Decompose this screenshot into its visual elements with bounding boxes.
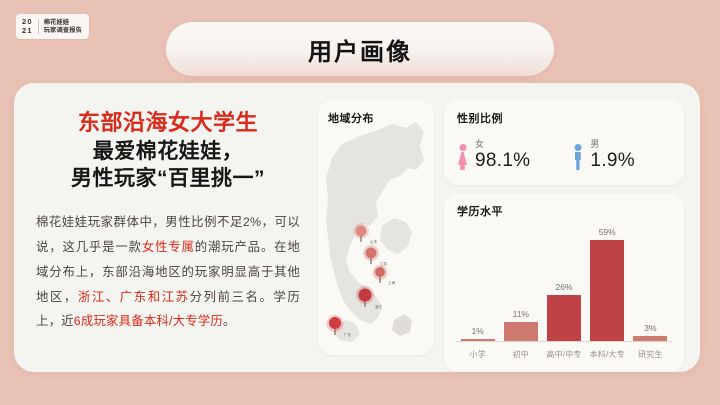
map-pin-label: 上海: [388, 280, 395, 285]
logo-words: 棉花娃娃 玩家调查报告: [44, 19, 82, 35]
region-panel-title: 地域分布: [328, 110, 434, 126]
logo-year: 20 21: [22, 18, 33, 35]
male-icon: [572, 144, 583, 171]
pin-dot: [329, 317, 341, 329]
chart-x-axis: 小学初中高中/中专本科/大专研究生: [456, 344, 672, 364]
summary-paragraph: 棉花娃娃玩家群体中，男性比例不足2%，可以说，这几乎是一款女性专属的潮玩产品。在…: [36, 210, 300, 334]
map-pin-jiangsu[interactable]: 江苏: [363, 245, 379, 265]
female-label: 女: [475, 137, 530, 150]
chart-bar: [633, 336, 667, 341]
chart-bar-column: 11%: [499, 227, 542, 341]
gender-rows: 女 98.1% 男 1.9%: [457, 137, 684, 171]
female-icon: [457, 144, 468, 171]
map-pin-shandong[interactable]: 山东: [353, 223, 369, 243]
pin-stem: [365, 301, 366, 307]
female-icon-head: [459, 144, 466, 151]
chart-x-tick: 高中/中专: [542, 344, 585, 364]
education-bar-chart: 1%11%26%59%3% 小学初中高中/中专本科/大专研究生: [456, 227, 672, 364]
gender-panel-title: 性别比例: [457, 110, 684, 126]
summary-text-4: 。: [223, 314, 236, 328]
male-label: 男: [590, 137, 635, 150]
pin-stem: [361, 236, 362, 242]
headline: 东部沿海女大学生 最爱棉花娃娃， 男性玩家“百里挑一”: [36, 109, 300, 192]
chart-bar-column: 3%: [629, 227, 672, 341]
pin-stem: [371, 258, 372, 264]
stats-column: 山东 江苏 上海 浙江: [318, 83, 700, 372]
education-panel-title: 学历水平: [457, 203, 684, 219]
chart-x-tick: 初中: [499, 344, 542, 364]
logo-words-line2: 玩家调查报告: [44, 27, 82, 35]
chart-bar-value: 3%: [644, 323, 656, 333]
chart-bar-column: 59%: [586, 227, 629, 341]
summary-highlight-1: 女性专属: [142, 240, 195, 254]
female-stat: 女 98.1%: [475, 137, 530, 171]
pin-stem: [379, 277, 380, 283]
chart-x-tick: 研究生: [629, 344, 672, 364]
map-pin-label: 广东: [344, 332, 351, 337]
chart-bar-value: 11%: [513, 309, 529, 319]
headline-line-1: 东部沿海女大学生: [36, 109, 300, 138]
male-value: 1.9%: [590, 150, 635, 171]
chart-bars: 1%11%26%59%3%: [456, 227, 672, 341]
page-title: 用户画像: [308, 32, 412, 67]
right-panel-stack: 性别比例 女 98.1%: [444, 100, 684, 372]
chart-bar-value: 26%: [556, 282, 573, 292]
male-icon-head: [574, 144, 581, 151]
chart-bar-column: 1%: [456, 227, 499, 341]
map-pin-shanghai[interactable]: 上海: [372, 265, 387, 284]
pin-dot: [375, 267, 385, 277]
headline-line-3: 男性玩家“百里挑一”: [36, 165, 300, 192]
pin-dot: [359, 289, 372, 302]
chart-bar: [461, 339, 495, 341]
female-icon-body: [458, 152, 467, 170]
chart-bar: [547, 295, 581, 341]
summary-highlight-3: 6成玩家具备本科/大专学历: [74, 314, 223, 328]
chart-bar: [590, 240, 624, 341]
map-graphic: 山东 江苏 上海 浙江: [318, 100, 434, 355]
chart-plot-area: 1%11%26%59%3%: [456, 227, 672, 342]
logo-year-bottom: 21: [22, 27, 33, 36]
logo-divider: [38, 19, 39, 34]
male-stat: 男 1.9%: [590, 137, 635, 171]
chart-x-tick: 本科/大专: [586, 344, 629, 364]
chart-bar-value: 59%: [599, 227, 616, 237]
page-title-pill: 用户画像: [166, 22, 554, 76]
male-icon-body: [573, 152, 582, 170]
female-value: 98.1%: [475, 150, 530, 171]
chart-bar-column: 26%: [542, 227, 585, 341]
chart-bar-value: 1%: [471, 326, 483, 336]
summary-column: 东部沿海女大学生 最爱棉花娃娃， 男性玩家“百里挑一” 棉花娃娃玩家群体中，男性…: [14, 83, 318, 372]
gender-item-male: 男 1.9%: [572, 137, 635, 171]
map-pin-guangdong[interactable]: 广东: [326, 315, 343, 336]
content-card: 东部沿海女大学生 最爱棉花娃娃， 男性玩家“百里挑一” 棉花娃娃玩家群体中，男性…: [14, 83, 700, 372]
gender-item-female: 女 98.1%: [457, 137, 530, 171]
map-pin-zhejiang[interactable]: 浙江: [356, 286, 374, 308]
pin-dot: [356, 226, 367, 237]
report-logo-badge: 20 21 棉花娃娃 玩家调查报告: [16, 14, 89, 39]
chart-bar: [504, 322, 538, 341]
summary-highlight-2: 浙江、广东和江苏: [78, 290, 190, 304]
map-pin-label: 浙江: [375, 304, 382, 309]
headline-line-2: 最爱棉花娃娃，: [36, 138, 300, 165]
chart-x-tick: 小学: [456, 344, 499, 364]
pin-dot: [366, 248, 377, 259]
gender-ratio-panel: 性别比例 女 98.1%: [444, 100, 684, 185]
pin-stem: [334, 329, 335, 335]
education-level-panel: 学历水平 1%11%26%59%3% 小学初中高中/中专本科/大专研究生: [444, 193, 684, 372]
map-pin-label: 山东: [370, 239, 377, 244]
region-distribution-panel: 山东 江苏 上海 浙江: [318, 100, 434, 355]
logo-words-line1: 棉花娃娃: [44, 19, 82, 27]
